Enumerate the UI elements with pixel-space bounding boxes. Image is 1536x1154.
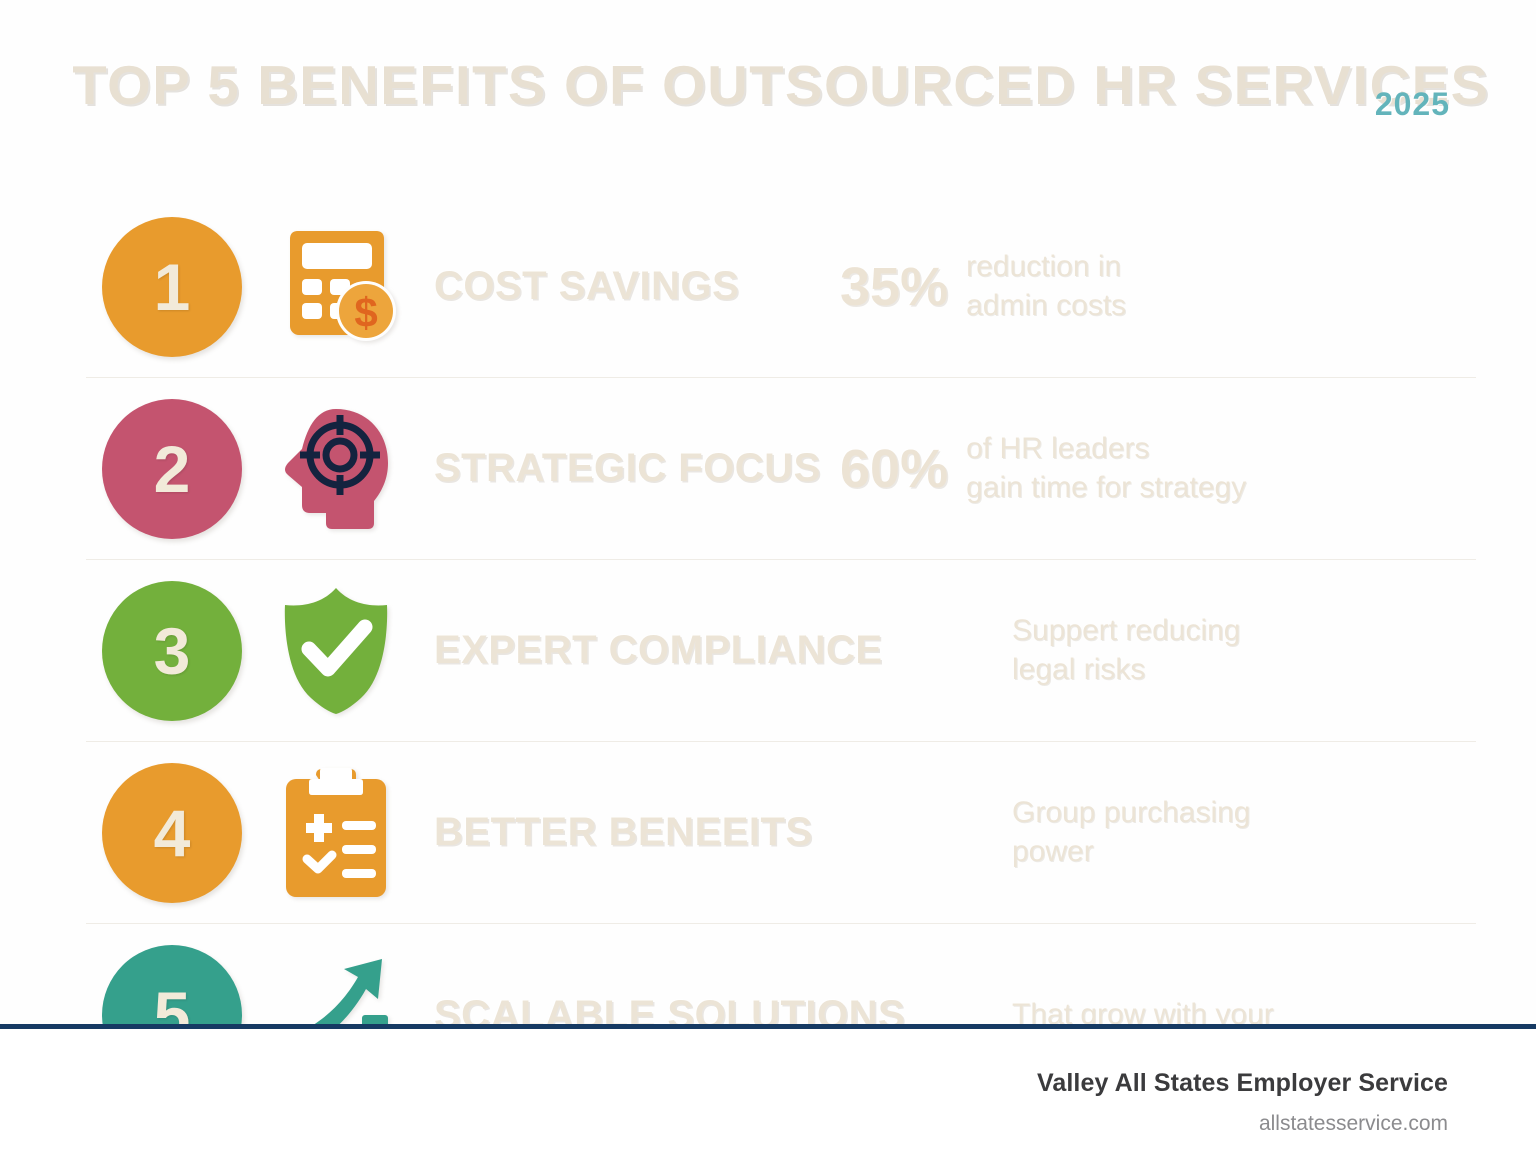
stat-description-4: Group purchasing power [1012,794,1250,871]
clipboard-checklist-icon [266,763,406,903]
benefit-label-1: COST SAVINGS [434,264,834,309]
svg-text:$: $ [354,289,377,336]
stat-group-4: Group purchasing power [840,794,1476,871]
footer: Valley All States Employer Service allst… [0,1029,1536,1154]
title-block: TOP 5 BENEFITS OF OUTSOURCED HR SERVICES [0,58,1536,113]
stat-group-2: 60% of HR leaders gain time for strategy [840,430,1476,507]
benefit-label-2: STRATEGIC FOCUS [434,446,834,491]
stat-group-1: 35% reduction in admin costs [840,248,1476,325]
infographic-poster: TOP 5 BENEFITS OF OUTSOURCED HR SERVICES… [0,0,1536,1154]
website-url[interactable]: allstatesservice.com [0,1112,1448,1136]
year-label: 2025 [1375,86,1450,123]
page-title: TOP 5 BENEFITS OF OUTSOURCED HR SERVICES [72,58,1463,113]
stat-group-3: Suppert reducing legal risks [840,612,1476,689]
number-badge-2: 2 [102,399,242,539]
benefit-row-4: 4 BETTER BENEEITS Group purchasing power [86,742,1476,924]
shield-check-icon [266,581,406,721]
number-badge-label: 4 [154,800,191,866]
benefit-label-4: BETTER BENEEITS [434,810,834,855]
benefit-row-1: 1 $ COST SAVINGS 35% re [86,196,1476,378]
benefit-row-2: 2 STRATEGIC FOCUS 60% [86,378,1476,560]
number-badge-label: 2 [154,436,191,502]
head-target-icon [266,399,406,539]
stat-description-3: Suppert reducing legal risks [1012,612,1241,689]
number-badge-label: 1 [154,254,191,320]
stat-percent-1: 35% [840,260,948,314]
benefit-row-3: 3 EXPERT COMPLIANCE Suppert reducing leg… [86,560,1476,742]
benefits-list: 1 $ COST SAVINGS 35% re [86,196,1476,1026]
benefit-label-3: EXPERT COMPLIANCE [434,628,834,673]
number-badge-1: 1 [102,217,242,357]
company-name: Valley All States Employer Service [0,1069,1448,1098]
calculator-dollar-icon: $ [266,217,406,357]
number-badge-label: 3 [154,618,191,684]
stat-description-2: of HR leaders gain time for strategy [966,430,1246,507]
stat-percent-2: 60% [840,442,948,496]
stat-description-1: reduction in admin costs [966,248,1126,325]
number-badge-3: 3 [102,581,242,721]
number-badge-4: 4 [102,763,242,903]
